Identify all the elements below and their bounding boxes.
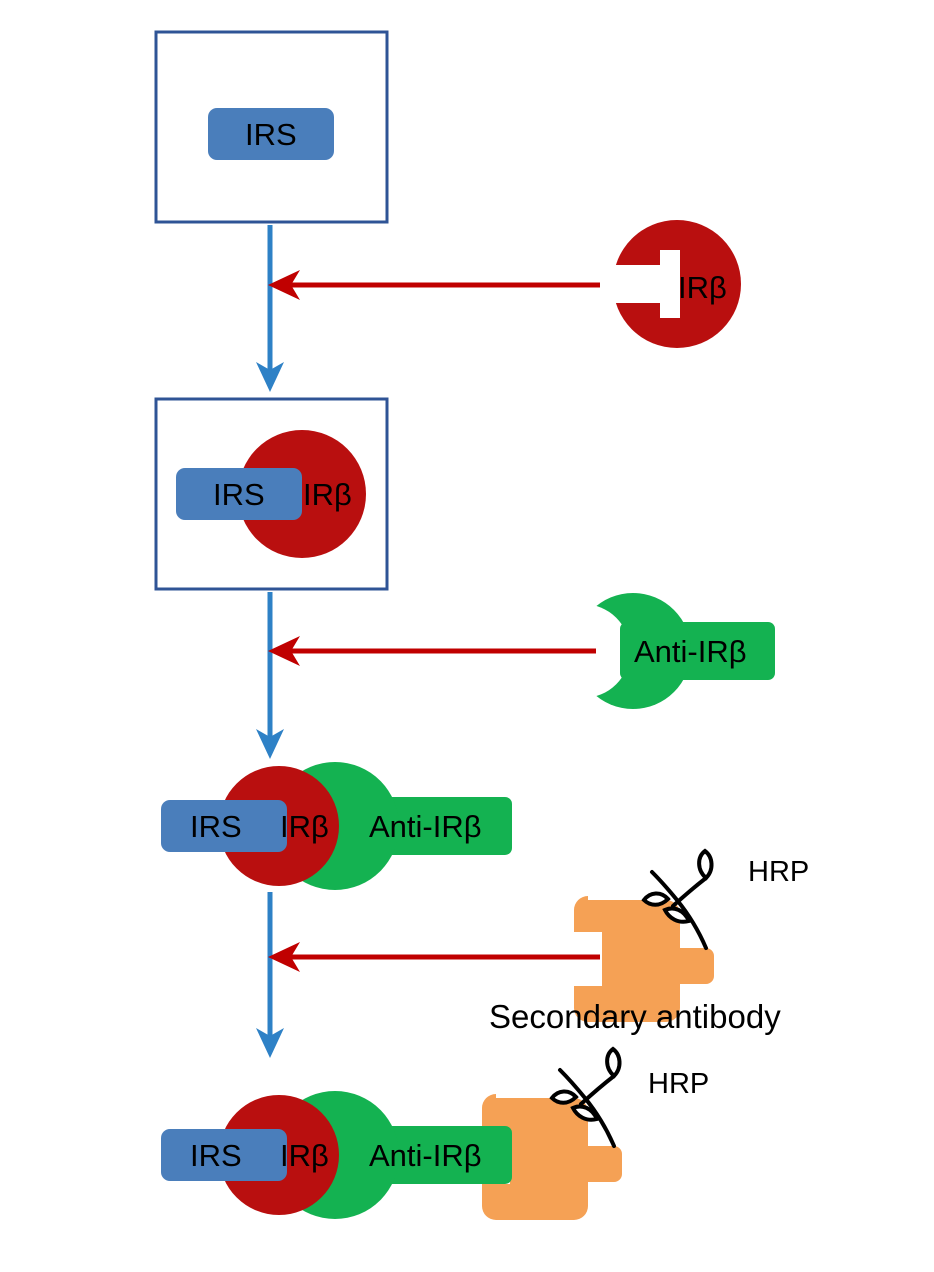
step-2-irs-label: IRS (213, 479, 265, 510)
step-1-irs-label: IRS (245, 119, 297, 150)
flow-arrow-1 (256, 225, 284, 392)
reagent-arrow-2 (268, 636, 596, 666)
secondary-antibody-label: Secondary antibody (489, 1000, 781, 1033)
diagram-canvas: IRS IRβ IRS IRβ Anti-IRβ IRS IRβ Anti-IR… (0, 0, 934, 1272)
reagent-arrow-3 (268, 942, 600, 972)
hrp-reagent-label: HRP (748, 858, 809, 887)
hrp-complex-label: HRP (648, 1070, 709, 1099)
step-3-irs-label: IRS (190, 811, 242, 842)
reagent-arrow-1 (268, 270, 600, 300)
flow-arrow-2 (256, 592, 284, 759)
flow-arrow-3 (256, 892, 284, 1058)
step-4-irs-label: IRS (190, 1140, 242, 1171)
diagram-vector-layer (0, 0, 934, 1272)
step-4-irb-label: IRβ (280, 1140, 329, 1171)
step-3-anti-irb-label: Anti-IRβ (369, 811, 482, 842)
irb-reagent-label: IRβ (678, 272, 727, 303)
step-4-anti-irb-label: Anti-IRβ (369, 1140, 482, 1171)
step-3-irb-label: IRβ (280, 811, 329, 842)
step-2-irb-label: IRβ (303, 479, 352, 510)
anti-irb-reagent-label: Anti-IRβ (634, 636, 747, 667)
